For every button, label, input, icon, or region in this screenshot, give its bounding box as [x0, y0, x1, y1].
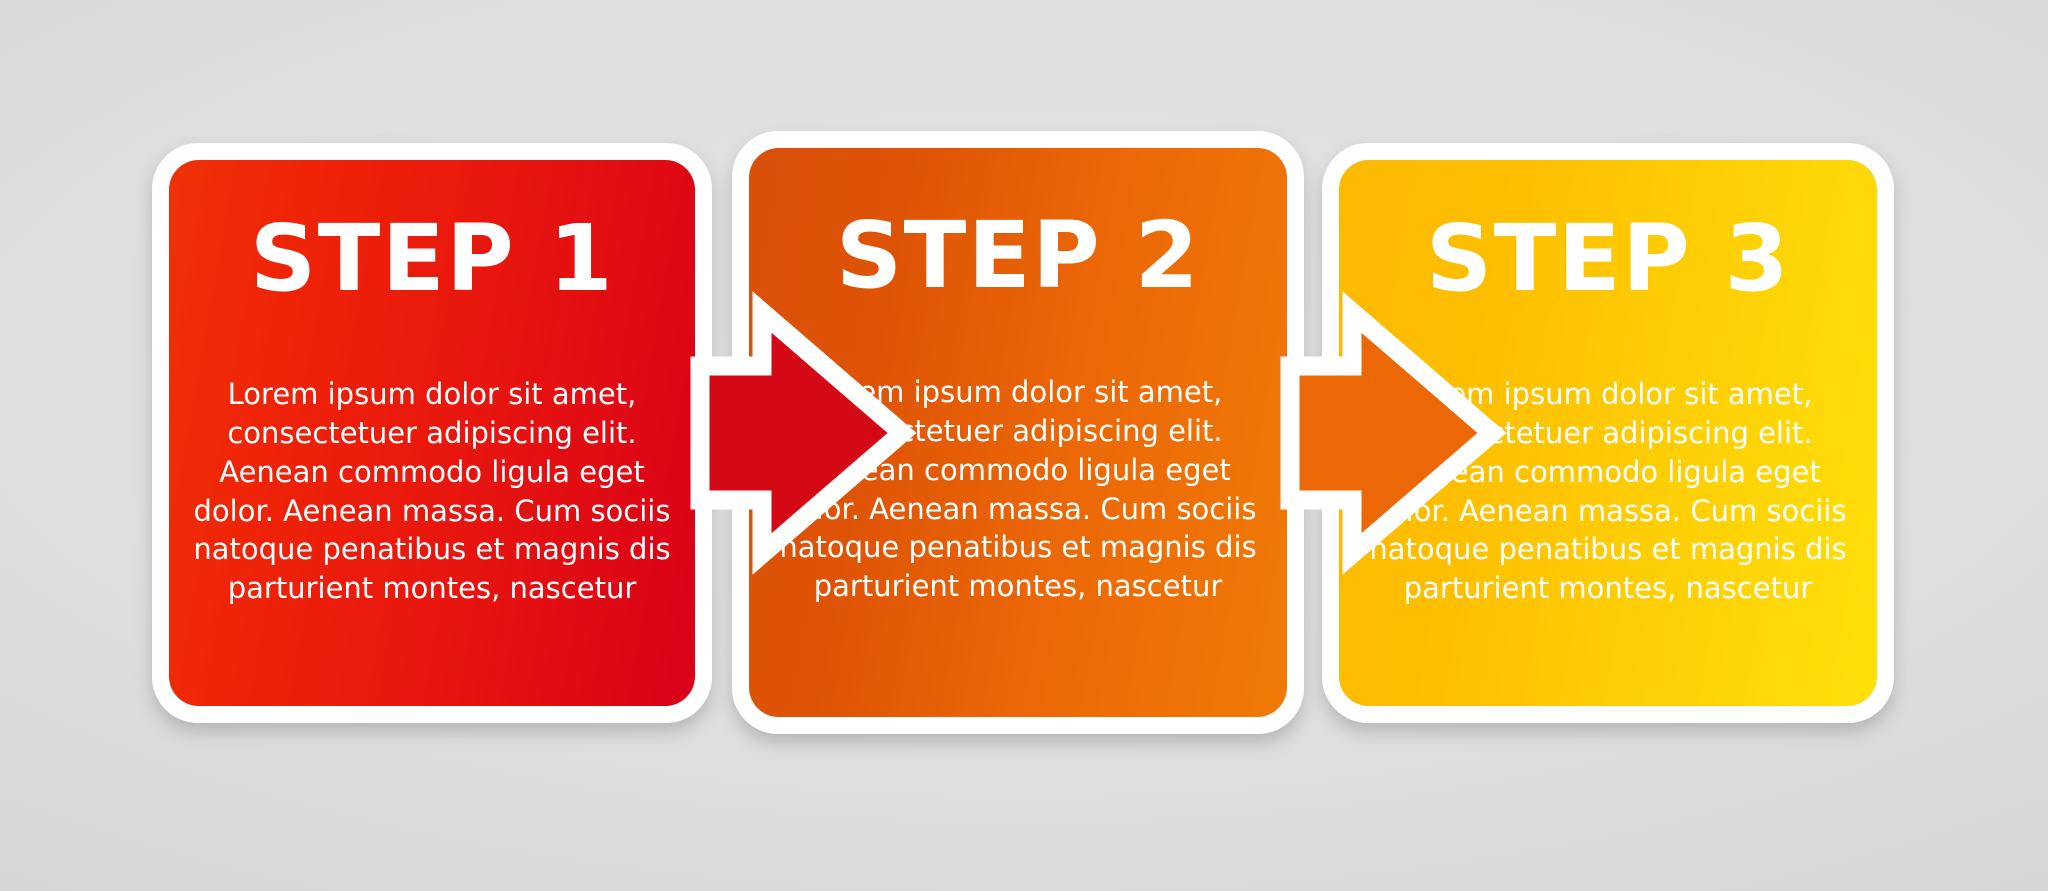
step-card-3-surface: STEP 3 Lorem ipsum dolor sit amet, conse…: [1339, 160, 1877, 706]
step-body-3: Lorem ipsum dolor sit amet, consectetuer…: [1339, 375, 1877, 608]
step-title-1: STEP 1: [169, 213, 695, 305]
step-card-2-surface: STEP 2 Lorem ipsum dolor sit amet, conse…: [749, 148, 1287, 717]
step-card-3[interactable]: STEP 3 Lorem ipsum dolor sit amet, conse…: [1322, 143, 1894, 723]
step-card-2[interactable]: STEP 2 Lorem ipsum dolor sit amet, conse…: [732, 131, 1304, 734]
step-card-1-surface: STEP 1 Lorem ipsum dolor sit amet, conse…: [169, 160, 695, 706]
step-card-1[interactable]: STEP 1 Lorem ipsum dolor sit amet, conse…: [152, 143, 712, 723]
step-title-2: STEP 2: [749, 210, 1287, 302]
step-body-2: Lorem ipsum dolor sit amet, consectetuer…: [749, 373, 1287, 606]
step-title-3: STEP 3: [1339, 213, 1877, 305]
step-body-1: Lorem ipsum dolor sit amet, consectetuer…: [169, 375, 695, 608]
infographic-canvas: STEP 1 Lorem ipsum dolor sit amet, conse…: [0, 0, 2048, 891]
